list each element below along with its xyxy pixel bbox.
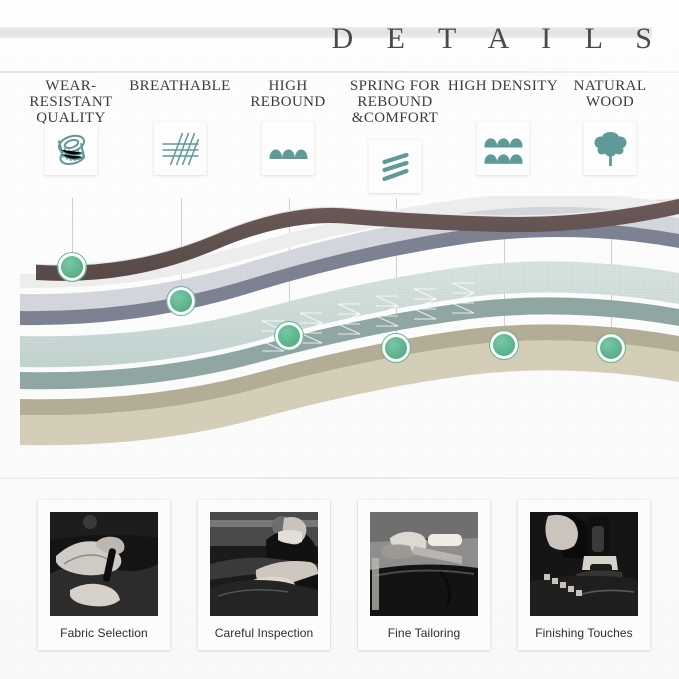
feature-row: WEAR-RESISTANT QUALITY: [0, 78, 679, 198]
feature-icon-card[interactable]: [369, 140, 422, 193]
card-caption: Fine Tailoring: [388, 626, 461, 640]
card-caption: Finishing Touches: [535, 626, 633, 640]
feature-high-rebound[interactable]: HIGH REBOUND: [229, 78, 347, 110]
feature-icon-card[interactable]: [262, 122, 315, 175]
feature-label: BREATHABLE: [121, 78, 239, 94]
feature-natural-wood[interactable]: NATURAL WOOD: [551, 78, 669, 110]
process-card-finishing-touches[interactable]: Finishing Touches: [518, 500, 650, 650]
mattress-layer-diagram: [0, 196, 679, 464]
layer-node-2[interactable]: [166, 286, 196, 316]
sewing-machine-photo: [530, 512, 638, 616]
layer-node-4[interactable]: [381, 333, 411, 363]
section-divider: [0, 477, 679, 479]
three-domes-icon: [269, 139, 307, 159]
dome-grid-icon: [484, 132, 522, 165]
feature-label: NATURAL WOOD: [551, 78, 669, 110]
page-title: D E T A I L S: [319, 22, 665, 56]
node-dot: [170, 290, 192, 312]
feature-label: WEAR-RESISTANT QUALITY: [12, 78, 130, 126]
feature-icon-card[interactable]: [45, 122, 98, 175]
tree-icon: [593, 131, 627, 167]
layer-node-6[interactable]: [596, 333, 626, 363]
details-page: D E T A I L S WEAR-RESISTANT QUALITY: [0, 0, 679, 679]
feature-high-density[interactable]: HIGH DENSITY: [444, 78, 562, 94]
hands-fabric-photo: [50, 512, 158, 616]
feature-wear-resistant-quality[interactable]: WEAR-RESISTANT QUALITY: [12, 78, 130, 126]
node-dot: [61, 256, 83, 278]
feature-label: HIGH REBOUND: [229, 78, 347, 110]
page-header: D E T A I L S: [0, 0, 679, 74]
worker-inspect-photo: [210, 512, 318, 616]
feature-breathable[interactable]: BREATHABLE: [121, 78, 239, 94]
card-caption: Careful Inspection: [215, 626, 314, 640]
feature-spring-rebound-comfort[interactable]: SPRING FOR REBOUND &COMFORT: [336, 78, 454, 126]
layer-node-1[interactable]: [57, 252, 87, 282]
spring-slashes-icon: [380, 151, 410, 183]
fabric-roll-icon: [52, 132, 90, 166]
process-card-careful-inspection[interactable]: Careful Inspection: [198, 500, 330, 650]
layer-node-5[interactable]: [489, 330, 519, 360]
node-dot: [385, 337, 407, 359]
header-divider: [0, 71, 679, 73]
feature-label: SPRING FOR REBOUND &COMFORT: [336, 78, 454, 126]
process-card-row: Fabric Selection Ca: [0, 500, 679, 660]
node-dot: [278, 325, 300, 347]
mesh-weave-icon: [161, 131, 199, 167]
process-card-fabric-selection[interactable]: Fabric Selection: [38, 500, 170, 650]
cutting-tool-photo: [370, 512, 478, 616]
node-dot: [600, 337, 622, 359]
feature-icon-card[interactable]: [154, 122, 207, 175]
node-dot: [493, 334, 515, 356]
card-caption: Fabric Selection: [60, 626, 148, 640]
feature-icon-card[interactable]: [584, 122, 637, 175]
feature-icon-card[interactable]: [477, 122, 530, 175]
feature-label: HIGH DENSITY: [444, 78, 562, 94]
layer-node-3[interactable]: [274, 321, 304, 351]
process-card-fine-tailoring[interactable]: Fine Tailoring: [358, 500, 490, 650]
